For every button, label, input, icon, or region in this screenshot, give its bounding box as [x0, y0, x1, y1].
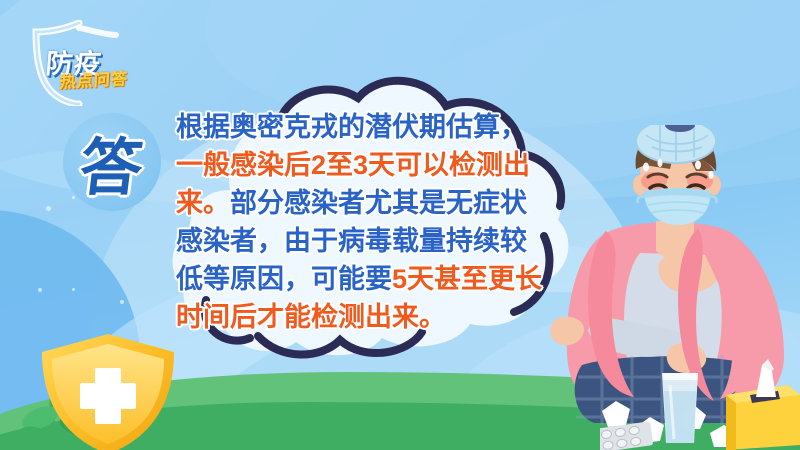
answer-segment: 部分感染者尤其是无症状 — [230, 188, 527, 218]
bedside-items — [600, 355, 800, 450]
water-glass-icon — [662, 373, 698, 443]
answer-segment: 5天甚至更长 — [392, 264, 542, 294]
answer-line: 时间后才能检测出来。 — [176, 298, 576, 336]
answer-line: 一般感染后2至3天可以检测出 — [176, 146, 576, 184]
sparkle-dot — [120, 300, 124, 304]
brand-logo: 防疫 热点问答 — [16, 18, 156, 108]
medical-shield-icon — [34, 330, 182, 450]
answer-text-block: 根据奥密克戎的潜伏期估算， 一般感染后2至3天可以检测出 来。部分感染者尤其是无… — [176, 108, 576, 336]
answer-badge-label: 答 — [69, 124, 154, 200]
answer-line: 根据奥密克戎的潜伏期估算， — [176, 108, 576, 146]
tissue-box-icon — [726, 359, 800, 450]
answer-line: 来。部分感染者尤其是无症状 — [176, 184, 576, 222]
sparkle-dot — [38, 288, 42, 292]
logo-sub-text: 热点问答 — [59, 65, 129, 93]
poster-canvas: 防疫 热点问答 答 根据奥密克戎的潜伏期估算， 一般感染后2至3天可以检测出 来… — [0, 0, 800, 450]
answer-segment: 来。 — [176, 188, 230, 218]
sparkle-dot — [72, 288, 75, 291]
answer-segment: 根据奥密克戎的潜伏期估算， — [176, 112, 527, 142]
sparkle-dot — [46, 206, 51, 211]
answer-segment: 时间后才能检测出来。 — [176, 302, 446, 332]
answer-line: 低等原因，可能要5天甚至更长 — [176, 260, 576, 298]
answer-line: 感染者，由于病毒载量持续较 — [176, 222, 576, 260]
answer-segment: 感染者，由于病毒载量持续较 — [176, 226, 527, 256]
answer-segment: 一般感染后2至3天可以检测出 — [176, 150, 530, 180]
answer-segment: 低等原因，可能要 — [176, 264, 392, 294]
